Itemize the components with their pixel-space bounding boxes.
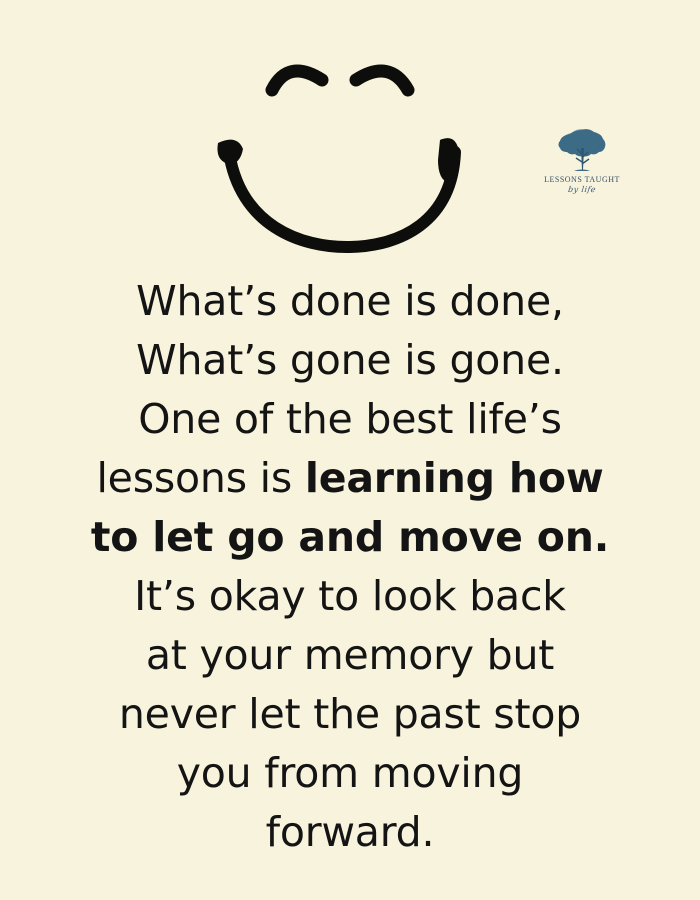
- quote-line-2: What’s gone is gone.: [0, 331, 700, 390]
- quote-line-4: lessons is learning how: [0, 449, 700, 508]
- smile-left-terminal: [217, 140, 243, 164]
- quote-line-5: to let go and move on.: [0, 508, 700, 567]
- quote-poster: LESSONS TAUGHT by life What’s done is do…: [0, 0, 700, 900]
- smile-arc: [229, 152, 455, 247]
- quote-line-4-regular: lessons is: [96, 454, 304, 502]
- brand-tagline: by life: [533, 185, 630, 194]
- quote-line-6: It’s okay to look back: [0, 567, 700, 626]
- brand-logo: LESSONS TAUGHT by life: [534, 124, 630, 202]
- left-eye-arc: [272, 71, 322, 90]
- quote-line-4-bold: learning how: [305, 454, 604, 502]
- oak-tree-icon: [552, 124, 612, 174]
- quote-line-9: you from moving: [0, 744, 700, 803]
- quote-text-block: What’s done is done, What’s gone is gone…: [0, 272, 700, 862]
- quote-line-10: forward.: [0, 803, 700, 862]
- brand-name: LESSONS TAUGHT: [534, 175, 630, 184]
- quote-line-1: What’s done is done,: [0, 272, 700, 331]
- quote-line-3: One of the best life’s: [0, 390, 700, 449]
- quote-line-8: never let the past stop: [0, 685, 700, 744]
- right-eye-arc: [356, 71, 408, 90]
- quote-line-7: at your memory but: [0, 626, 700, 685]
